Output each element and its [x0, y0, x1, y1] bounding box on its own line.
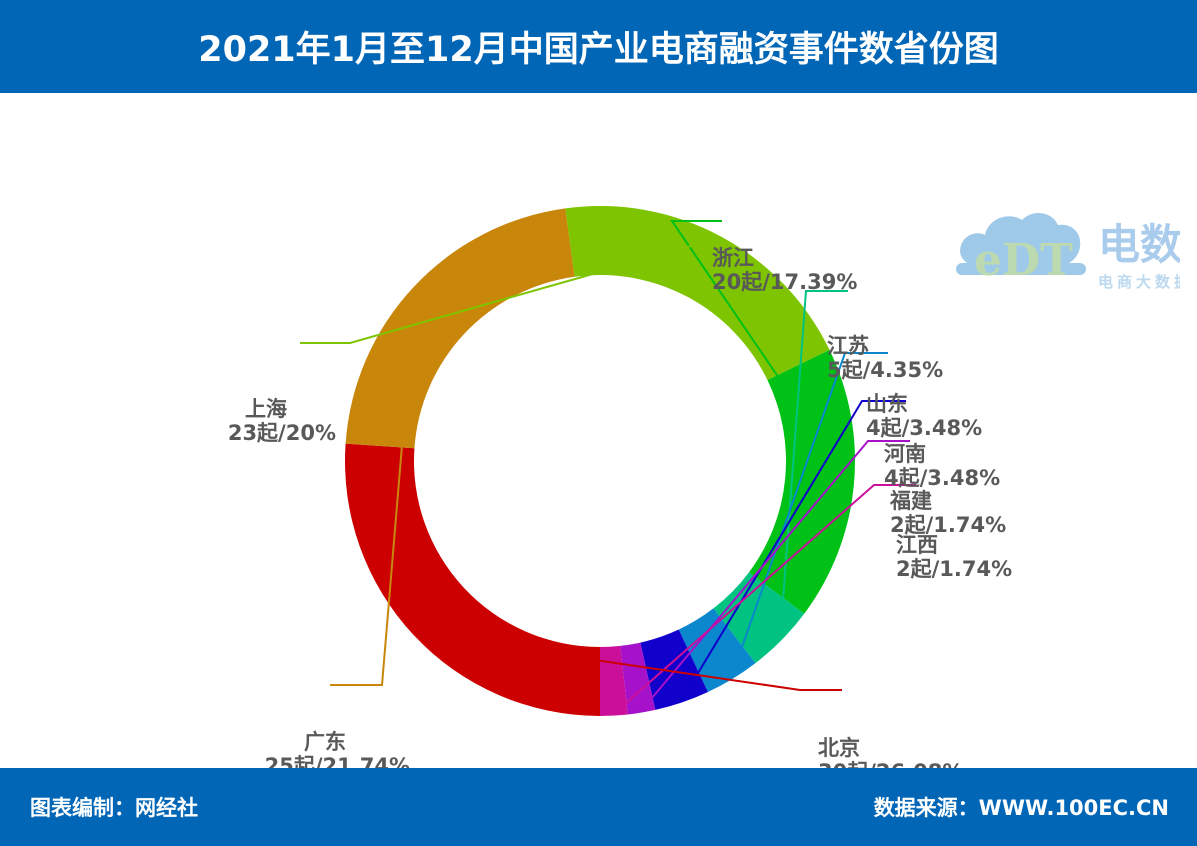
slice-label-fujian: 福建 2起/1.74% [890, 490, 1006, 537]
slice-label-henan: 河南 4起/3.48% [884, 443, 1000, 490]
slice-name-henan: 河南 [884, 443, 1000, 467]
slice-name-beijing: 北京 [818, 737, 963, 761]
slice-name-shanghai: 上海 [196, 398, 336, 422]
donut-slice-浙江[interactable] [749, 350, 855, 614]
logo-mark-text: eDT [974, 235, 1073, 286]
slice-label-zhejiang: 浙江 20起/17.39% [712, 247, 857, 294]
donut-chart [0, 93, 1197, 768]
page-title: 2021年1月至12月中国产业电商融资事件数省份图 [198, 21, 998, 72]
header-bar: 2021年1月至12月中国产业电商融资事件数省份图 [0, 0, 1197, 93]
slice-label-shanghai: 上海 23起/20% [196, 398, 336, 445]
slice-name-fujian: 福建 [890, 490, 1006, 514]
slice-label-jiangxi: 江西 2起/1.74% [896, 534, 1012, 581]
slice-value-jiangsu: 5起/4.35% [827, 359, 943, 383]
slice-value-shanghai: 23起/20% [196, 422, 336, 446]
logo-brand-text: 电数宝 [1098, 220, 1180, 269]
slice-name-jiangxi: 江西 [896, 534, 1012, 558]
footer-credit: 图表编制：网经社 [30, 792, 198, 822]
footer-source: 数据来源：WWW.100EC.CN [874, 792, 1169, 822]
slice-value-shandong: 4起/3.48% [866, 417, 982, 441]
chart-canvas: eDT 电数宝 电商大数据库 浙江 20起/17.39% 江苏 5起/4.35%… [0, 93, 1197, 768]
slice-name-guangdong: 广东 [240, 731, 410, 755]
logo-tagline-text: 电商大数据库 [1098, 273, 1180, 291]
donut-slice-广东[interactable] [346, 208, 575, 448]
slice-value-jiangxi: 2起/1.74% [896, 558, 1012, 582]
slice-name-jiangsu: 江苏 [827, 335, 943, 359]
slice-label-shandong: 山东 4起/3.48% [866, 393, 982, 440]
slice-value-henan: 4起/3.48% [884, 467, 1000, 491]
slice-name-zhejiang: 浙江 [712, 247, 857, 271]
slice-value-zhejiang: 20起/17.39% [712, 271, 857, 295]
footer-bar: 图表编制：网经社 数据来源：WWW.100EC.CN [0, 768, 1197, 846]
slice-name-shandong: 山东 [866, 393, 982, 417]
slice-label-jiangsu: 江苏 5起/4.35% [827, 335, 943, 382]
brand-logo: eDT 电数宝 电商大数据库 [948, 205, 1180, 303]
